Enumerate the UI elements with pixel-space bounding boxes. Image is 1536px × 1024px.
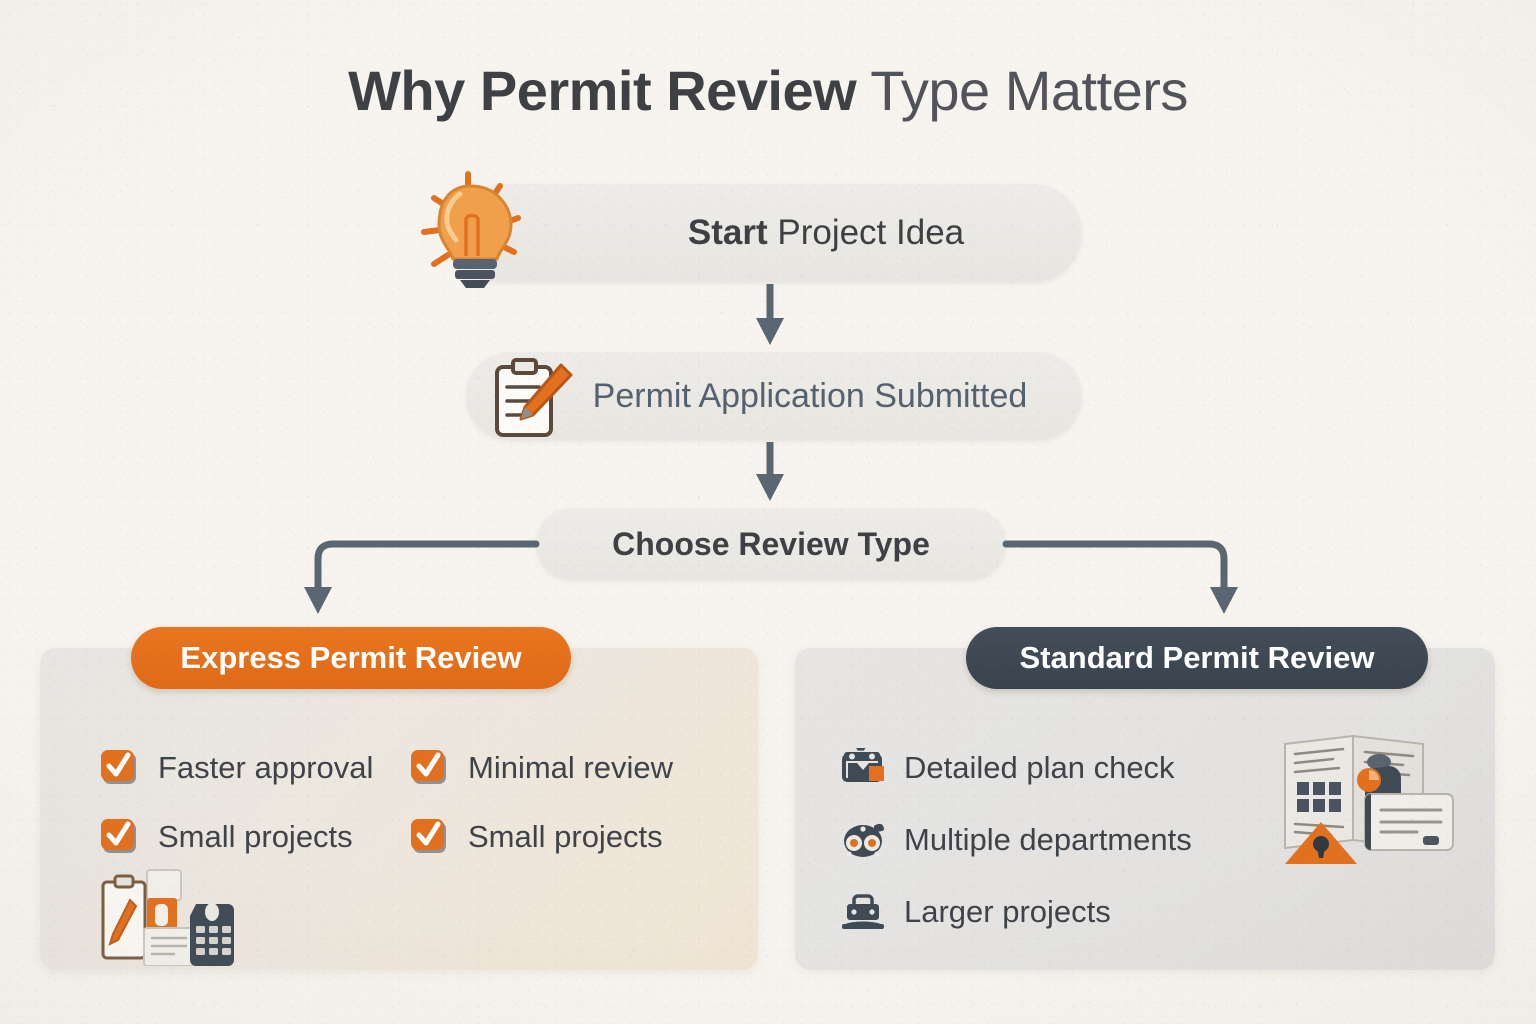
clipboard-documents-calculator-illustration (100, 868, 240, 966)
lightbulb-icon (408, 160, 532, 290)
arrow-choose-to-express (304, 544, 536, 614)
blueprint-briefcase-warning-illustration (1277, 732, 1457, 872)
arrow-start-to-application (756, 284, 784, 345)
arrow-application-to-choose (756, 442, 784, 501)
arrow-choose-to-standard (1006, 544, 1238, 614)
clipboard-pencil-icon (489, 357, 575, 441)
